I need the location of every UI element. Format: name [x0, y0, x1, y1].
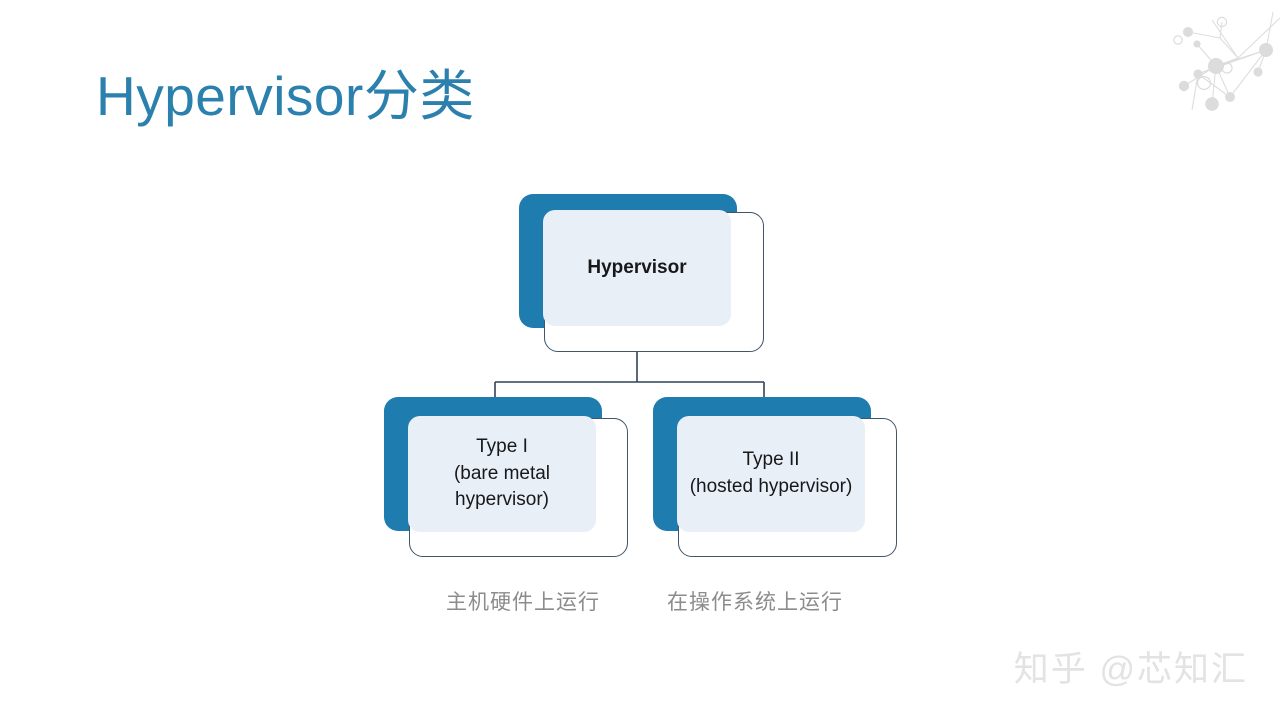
node-type-2-fill-layer: Type II (hosted hypervisor) [677, 416, 865, 532]
node-hypervisor-fill-layer: Hypervisor [543, 210, 731, 326]
connector-lines [0, 0, 1280, 720]
slide-canvas: Hypervisor分类 [0, 0, 1280, 720]
caption-type-1: 主机硬件上运行 [446, 586, 600, 616]
node-type-1[interactable]: Type I (bare metal hypervisor) [384, 397, 628, 557]
node-type-2[interactable]: Type II (hosted hypervisor) [653, 397, 897, 557]
node-hypervisor[interactable]: Hypervisor [519, 194, 764, 352]
node-type-2-label: Type II (hosted hypervisor) [690, 447, 853, 501]
node-type-1-fill-layer: Type I (bare metal hypervisor) [408, 416, 596, 532]
caption-type-2: 在操作系统上运行 [667, 586, 843, 616]
node-type-1-label: Type I (bare metal hypervisor) [408, 434, 596, 515]
watermark: 知乎 @芯知汇 [1014, 641, 1248, 692]
node-hypervisor-label: Hypervisor [587, 255, 686, 282]
